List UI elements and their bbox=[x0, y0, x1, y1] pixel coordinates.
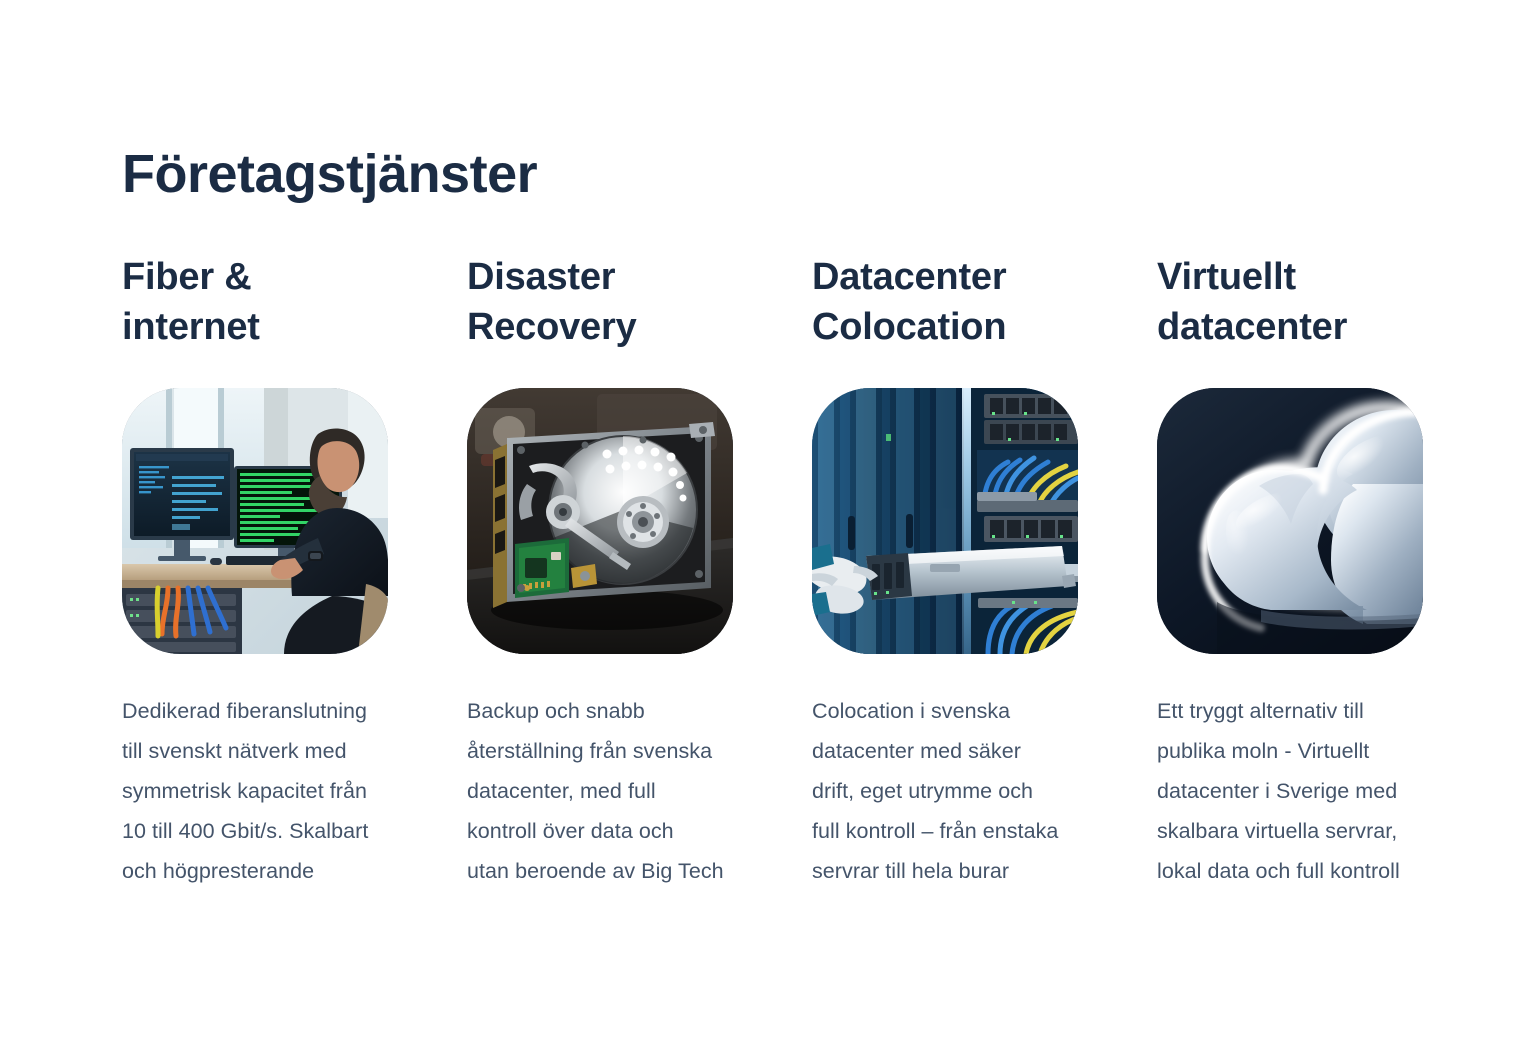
title-line: Colocation bbox=[812, 302, 1078, 352]
service-card-disaster-recovery[interactable]: Disaster Recovery bbox=[467, 252, 733, 891]
description-line: Dedikerad fiberanslutning bbox=[122, 691, 388, 731]
description-line: till svenskt nätverk med bbox=[122, 731, 388, 771]
description-line: datacenter, med full bbox=[467, 771, 733, 811]
service-cards-grid: Fiber & internet bbox=[122, 252, 1424, 891]
description-line: datacenter med säker bbox=[812, 731, 1078, 771]
description-line: återställning från svenska bbox=[467, 731, 733, 771]
technician-at-monitors-photo bbox=[122, 388, 388, 654]
description-line: Colocation i svenska bbox=[812, 691, 1078, 731]
title-line: internet bbox=[122, 302, 388, 352]
glossy-cloud-icon bbox=[1157, 388, 1423, 654]
service-card-title: Fiber & internet bbox=[122, 252, 388, 352]
description-line: skalbara virtuella servrar, bbox=[1157, 811, 1423, 851]
description-line: datacenter i Sverige med bbox=[1157, 771, 1423, 811]
description-line: publika moln - Virtuellt bbox=[1157, 731, 1423, 771]
server-rack-installation-photo bbox=[812, 388, 1078, 654]
description-line: servrar till hela burar bbox=[812, 851, 1078, 891]
service-card-datacenter-colocation[interactable]: Datacenter Colocation bbox=[812, 252, 1078, 891]
service-card-description: Colocation i svenska datacenter med säke… bbox=[812, 691, 1078, 891]
description-line: utan beroende av Big Tech bbox=[467, 851, 733, 891]
service-card-description: Dedikerad fiberanslutning till svenskt n… bbox=[122, 691, 388, 891]
service-card-title: Disaster Recovery bbox=[467, 252, 733, 352]
page-title: Företagstjänster bbox=[122, 145, 537, 204]
description-line: lokal data och full kontroll bbox=[1157, 851, 1423, 891]
open-hard-drive-photo bbox=[467, 388, 733, 654]
title-line: Recovery bbox=[467, 302, 733, 352]
description-line: Ett tryggt alternativ till bbox=[1157, 691, 1423, 731]
title-line: Datacenter bbox=[812, 252, 1078, 302]
description-line: kontroll över data och bbox=[467, 811, 733, 851]
services-section: Företagstjänster Fiber & internet bbox=[0, 0, 1533, 1040]
description-line: och högpresterande bbox=[122, 851, 388, 891]
description-line: full kontroll – från enstaka bbox=[812, 811, 1078, 851]
service-card-title: Virtuellt datacenter bbox=[1157, 252, 1423, 352]
service-card-description: Ett tryggt alternativ till publika moln … bbox=[1157, 691, 1423, 891]
description-line: symmetrisk kapacitet från bbox=[122, 771, 388, 811]
description-line: Backup och snabb bbox=[467, 691, 733, 731]
title-line: Disaster bbox=[467, 252, 733, 302]
service-card-description: Backup och snabb återställning från sven… bbox=[467, 691, 733, 891]
service-card-virtual-datacenter[interactable]: Virtuellt datacenter bbox=[1157, 252, 1423, 891]
title-line: datacenter bbox=[1157, 302, 1423, 352]
description-line: drift, eget utrymme och bbox=[812, 771, 1078, 811]
service-card-title: Datacenter Colocation bbox=[812, 252, 1078, 352]
title-line: Fiber & bbox=[122, 252, 388, 302]
service-card-fiber-internet[interactable]: Fiber & internet bbox=[122, 252, 388, 891]
description-line: 10 till 400 Gbit/s. Skalbart bbox=[122, 811, 388, 851]
title-line: Virtuellt bbox=[1157, 252, 1423, 302]
